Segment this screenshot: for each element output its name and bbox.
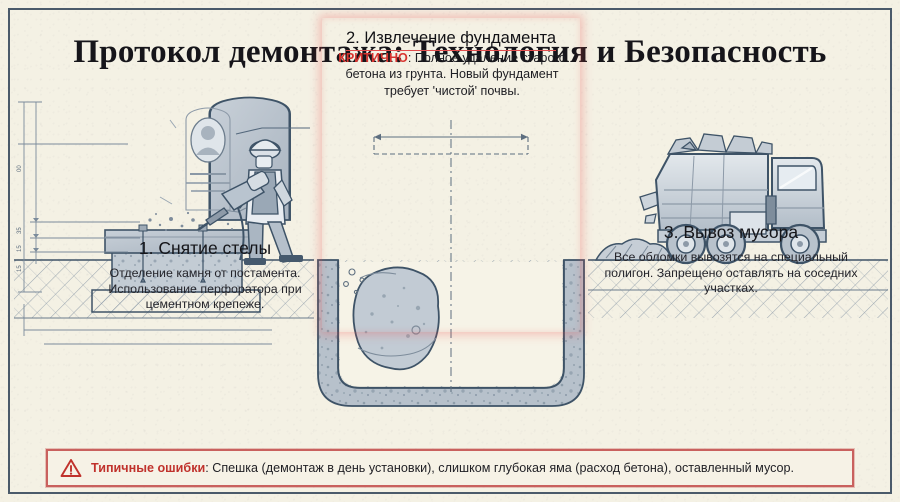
common-mistakes-text: Типичные ошибки: Спешка (демонтаж в день…	[91, 461, 794, 475]
step-3-heading: 3. Вывоз мусора	[596, 222, 866, 243]
truck-load-rubble	[668, 134, 772, 154]
step-3-caption: 3. Вывоз мусора Все обломки вывозятся на…	[596, 222, 866, 297]
step-1-caption: 1. Снятие стелы Отделение камня от поста…	[88, 238, 322, 313]
common-mistakes-body: : Спешка (демонтаж в день установки), сл…	[205, 461, 794, 475]
step-1-heading: 1. Снятие стелы	[88, 238, 322, 259]
step-2-heading: 2. Извлечение фундамента	[346, 29, 556, 51]
step-3-body: Все обломки вывозятся на специальный пол…	[596, 250, 866, 297]
step-2-body: КРИТИЧНО: Полное удаление старого бетона…	[330, 50, 574, 99]
dimension-label-group: 00 35 15 15	[17, 165, 23, 272]
dim-label-2: 15	[17, 245, 23, 252]
warning-triangle-icon	[60, 458, 82, 478]
common-mistakes-bar: Типичные ошибки: Спешка (демонтаж в день…	[46, 449, 854, 487]
dim-label-0: 00	[17, 165, 23, 172]
dim-label-3: 15	[17, 265, 23, 272]
step-1-body: Отделение камня от постамента. Использов…	[88, 266, 322, 313]
dim-label-1: 35	[17, 227, 23, 234]
step-2-critical-label: КРИТИЧНО	[338, 51, 408, 65]
step-2-heading-wrap: 2. Извлечение фундамента	[324, 20, 578, 51]
infographic-root: Протокол демонтажа: Технология и Безопас…	[0, 0, 900, 502]
common-mistakes-label: Типичные ошибки	[91, 461, 205, 475]
